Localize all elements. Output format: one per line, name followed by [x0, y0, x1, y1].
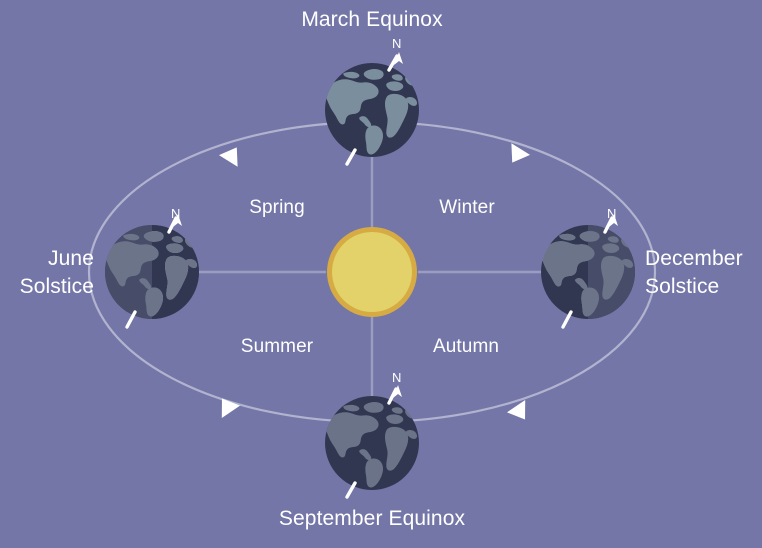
north-label-september: N — [392, 370, 402, 385]
orbit-arrow-lower-right-icon — [507, 400, 534, 426]
label-june-solstice-line2: Solstice — [20, 275, 94, 299]
north-label-december: N — [607, 206, 617, 221]
seasons-diagram: March Equinox N June Solstice N Septembe… — [0, 0, 762, 548]
north-label-june: N — [171, 206, 181, 221]
label-june-solstice-line1: June — [48, 247, 94, 271]
sun — [327, 227, 417, 317]
earth-december-solstice — [541, 214, 635, 327]
earth-june-solstice — [105, 214, 199, 327]
label-december-solstice-line2: Solstice — [645, 275, 719, 299]
orbit-arrow-lower-left-icon — [213, 392, 240, 418]
season-label-spring: Spring — [249, 197, 305, 219]
label-december-solstice-line1: December — [645, 247, 743, 271]
label-september-equinox: September Equinox — [279, 507, 465, 531]
north-label-march: N — [392, 36, 402, 51]
season-label-winter: Winter — [439, 197, 495, 219]
label-march-equinox: March Equinox — [301, 8, 442, 32]
season-label-autumn: Autumn — [433, 336, 499, 358]
earth-march-equinox — [325, 52, 419, 164]
season-label-summer: Summer — [241, 336, 313, 358]
diagram-canvas — [0, 0, 762, 548]
earth-september-equinox — [325, 385, 419, 497]
